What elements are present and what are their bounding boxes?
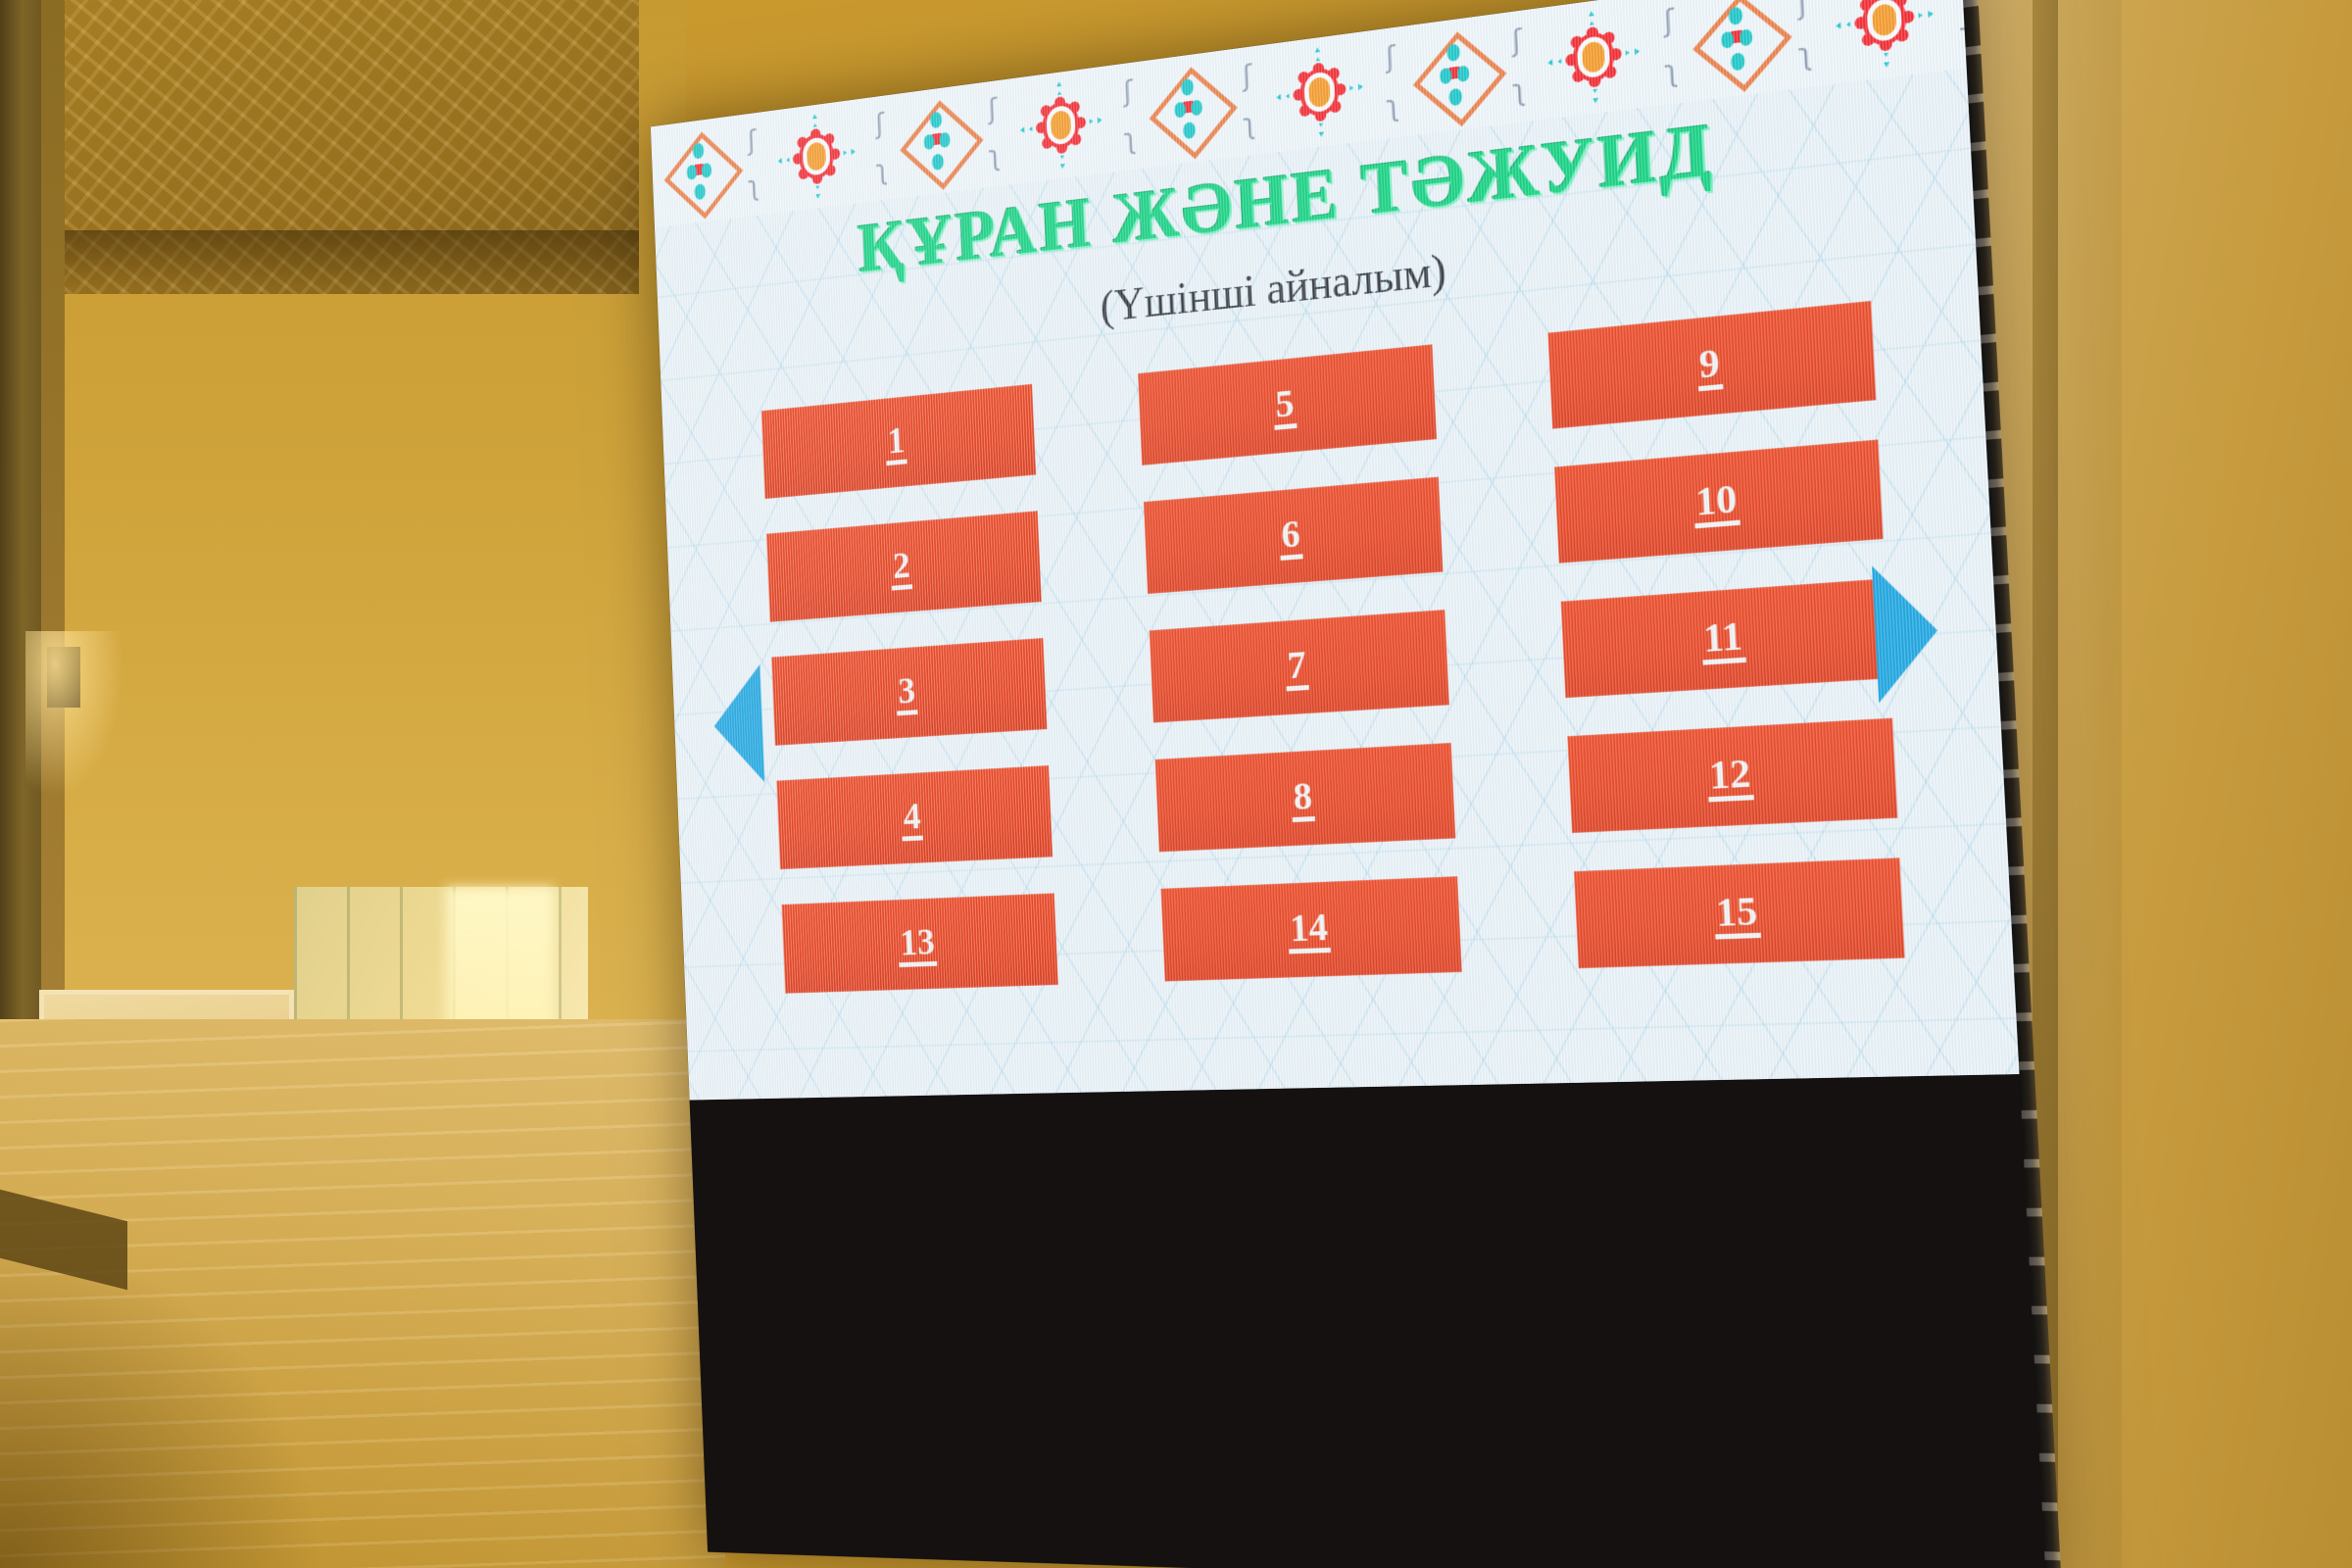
number-button-5[interactable]: 5	[1138, 344, 1438, 465]
ornament-star-flower-icon	[1266, 32, 1373, 150]
ornament-diamond-icon	[898, 87, 976, 194]
number-button-label: 6	[1279, 513, 1303, 561]
number-button-7[interactable]: 7	[1149, 610, 1449, 723]
ornament-star-flower-icon	[1538, 0, 1651, 118]
floor-shadow	[0, 1235, 323, 1568]
number-button-label: 13	[898, 921, 938, 967]
number-button-label: 8	[1291, 774, 1315, 821]
ornament-filler-glyph-icon: ʃʅ	[1779, 0, 1830, 84]
number-button-2[interactable]: 2	[766, 511, 1042, 622]
number-button-12[interactable]: 12	[1568, 718, 1898, 833]
next-arrow-icon[interactable]	[1872, 562, 1941, 703]
ornament-star-flower-icon	[769, 101, 864, 212]
number-button-10[interactable]: 10	[1554, 439, 1883, 563]
ornament-star-flower-icon	[1825, 0, 1945, 82]
number-button-label: 14	[1287, 906, 1331, 954]
prev-arrow-icon[interactable]	[711, 664, 764, 785]
number-button-3[interactable]: 3	[771, 638, 1047, 746]
ornament-diamond-icon	[1410, 18, 1498, 131]
number-button-9[interactable]: 9	[1548, 301, 1877, 429]
number-button-label: 15	[1713, 889, 1761, 939]
number-button-14[interactable]: 14	[1160, 876, 1462, 981]
ornament-diamond-icon	[662, 120, 737, 222]
number-button-label: 5	[1272, 382, 1297, 430]
number-button-15[interactable]: 15	[1574, 857, 1904, 968]
number-button-8[interactable]: 8	[1154, 743, 1455, 852]
ornament-filler-glyph-icon: ʃʅ	[860, 99, 902, 196]
ornament-filler-glyph-icon: ʃʅ	[733, 117, 773, 213]
number-button-13[interactable]: 13	[781, 893, 1057, 993]
screen-container: ʃʅʃʅʃʅʃʅʃʅʃʅʃʅʃʅʃʅʃʅʃʅʃʅʃʅʃʅʃʅʃʅʃʅʃʅʃʅʃʅ…	[608, 0, 2019, 1568]
ornament-filler-glyph-icon: ʃʅ	[1107, 67, 1151, 167]
ornament-diamond-icon	[1690, 0, 1784, 97]
number-button-label: 11	[1700, 613, 1745, 664]
number-button-label: 1	[885, 419, 907, 465]
number-button-label: 10	[1692, 476, 1740, 528]
number-button-label: 12	[1706, 751, 1754, 802]
ceiling-shadow	[61, 230, 639, 289]
ornament-star-flower-icon	[1010, 68, 1111, 182]
panel-lower-blank-area	[690, 1074, 2047, 1568]
ornament-diamond-icon	[1147, 54, 1230, 164]
number-button-label: 7	[1285, 643, 1309, 690]
led-video-wall: ʃʅʃʅʃʅʃʅʃʅʃʅʃʅʃʅʃʅʃʅʃʅʃʅʃʅʃʅʃʅʃʅʃʅʃʅʃʅʃʅ…	[651, 0, 2047, 1568]
ornament-filler-glyph-icon: ʃʅ	[1494, 14, 1543, 119]
number-button-4[interactable]: 4	[776, 765, 1053, 869]
ornament-filler-glyph-icon: ʃʅ	[1368, 31, 1415, 134]
number-button-11[interactable]: 11	[1561, 578, 1890, 698]
ornament-filler-glyph-icon: ʃʅ	[1226, 50, 1271, 152]
number-button-1[interactable]: 1	[761, 384, 1036, 499]
ornament-filler-glyph-icon: ʃʅ	[1645, 0, 1695, 101]
number-button-label: 3	[896, 670, 918, 715]
number-button-label: 9	[1695, 341, 1723, 391]
display-panel: ʃʅʃʅʃʅʃʅʃʅʃʅʃʅʃʅʃʅʃʅʃʅʃʅʃʅʃʅʃʅʃʅʃʅʃʅʃʅʃʅ…	[651, 0, 2020, 1101]
question-number-grid: 159261037114812131415	[761, 301, 1905, 994]
number-button-label: 4	[901, 796, 923, 841]
wall-lamp	[47, 647, 80, 708]
number-button-label: 2	[890, 545, 912, 590]
number-button-6[interactable]: 6	[1144, 476, 1444, 594]
ornament-filler-glyph-icon: ʃʅ	[972, 84, 1015, 183]
left-pillar	[0, 0, 41, 1058]
